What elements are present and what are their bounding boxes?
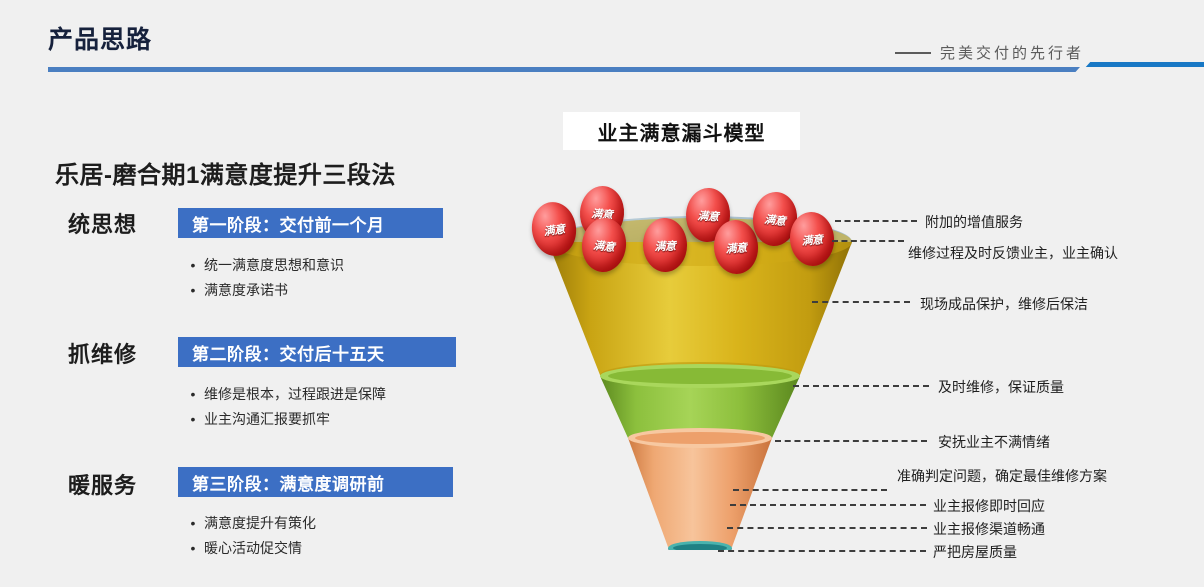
bullet-text: 满意度承诺书	[204, 278, 288, 303]
stage-key-2: 抓维修	[68, 337, 137, 369]
list-item: •暖心活动促交情	[182, 536, 316, 561]
leader-line	[718, 550, 926, 552]
bullet-dot-icon: •	[182, 511, 204, 536]
bullet-dot-icon: •	[182, 253, 204, 278]
funnel-layer-orange	[628, 438, 772, 547]
header-rule-accent	[1100, 62, 1204, 67]
leader-line	[727, 527, 927, 529]
header-tagline: 完美交付的先行者	[940, 42, 1084, 63]
stage-key-1: 统思想	[68, 207, 137, 239]
leader-line	[730, 504, 926, 506]
callout-label: 现场成品保护，维修后保洁	[920, 294, 1088, 315]
stage-key-3: 暖服务	[68, 468, 137, 500]
bullet-text: 暖心活动促交情	[204, 536, 302, 561]
callout-label: 维修过程及时反馈业主，业主确认	[908, 243, 1138, 264]
list-item: •满意度提升有策化	[182, 511, 316, 536]
bullet-dot-icon: •	[182, 407, 204, 432]
bullet-text: 统一满意度思想和意识	[204, 253, 344, 278]
balloon-label: 满意	[654, 238, 676, 255]
callout-label: 业主报修渠道畅通	[933, 519, 1045, 540]
slide-canvas: 产品思路 完美交付的先行者 乐居-磨合期1满意度提升三段法 统思想 第一阶段：交…	[0, 0, 1204, 587]
bullet-dot-icon: •	[182, 278, 204, 303]
stage-banner-3[interactable]: 第三阶段：满意度调研前	[178, 467, 453, 497]
callout-label: 及时维修，保证质量	[938, 377, 1064, 398]
list-item: •满意度承诺书	[182, 278, 344, 303]
list-item: •维修是根本，过程跟进是保障	[182, 382, 386, 407]
stage-bullets-1: •统一满意度思想和意识 •满意度承诺书	[182, 253, 344, 303]
balloon-label: 满意	[697, 207, 719, 224]
header-rule	[48, 67, 1088, 72]
leader-line	[832, 240, 904, 242]
list-item: •业主沟通汇报要抓牢	[182, 407, 386, 432]
page-title: 产品思路	[48, 20, 152, 56]
callout-label: 附加的增值服务	[925, 212, 1023, 233]
leader-line	[793, 385, 929, 387]
leader-line	[775, 440, 927, 442]
funnel-diagram: 满意 满意 满意 满意 满意 满意 满意 满意	[500, 180, 920, 550]
balloon-label: 满意	[764, 211, 787, 229]
bullet-text: 满意度提升有策化	[204, 511, 316, 536]
callout-label: 严把房屋质量	[933, 542, 1017, 563]
stage-banner-2[interactable]: 第二阶段：交付后十五天	[178, 337, 456, 367]
stage-bullets-2: •维修是根本，过程跟进是保障 •业主沟通汇报要抓牢	[182, 382, 386, 432]
tagline-dash-icon	[895, 52, 931, 54]
leader-line	[812, 301, 910, 303]
leader-line	[835, 220, 917, 222]
bullet-text: 维修是根本，过程跟进是保障	[204, 382, 386, 407]
callout-label: 准确判定问题，确定最佳维修方案	[897, 466, 1107, 487]
list-item: •统一满意度思想和意识	[182, 253, 344, 278]
balloon-label: 满意	[725, 239, 747, 256]
bullet-dot-icon: •	[182, 382, 204, 407]
callout-label: 业主报修即时回应	[933, 496, 1045, 517]
stage-banner-1[interactable]: 第一阶段：交付前一个月	[178, 208, 443, 238]
bullet-text: 业主沟通汇报要抓牢	[204, 407, 330, 432]
bullet-dot-icon: •	[182, 536, 204, 561]
balloon-label: 满意	[801, 231, 823, 249]
callout-label: 安抚业主不满情绪	[938, 432, 1050, 453]
balloon-label: 满意	[543, 221, 566, 240]
stage-bullets-3: •满意度提升有策化 •暖心活动促交情	[182, 511, 316, 561]
leader-line	[733, 489, 887, 491]
funnel-title: 业主满意漏斗模型	[563, 112, 800, 150]
balloon-label: 满意	[593, 237, 616, 255]
left-panel-heading: 乐居-磨合期1满意度提升三段法	[55, 155, 396, 190]
